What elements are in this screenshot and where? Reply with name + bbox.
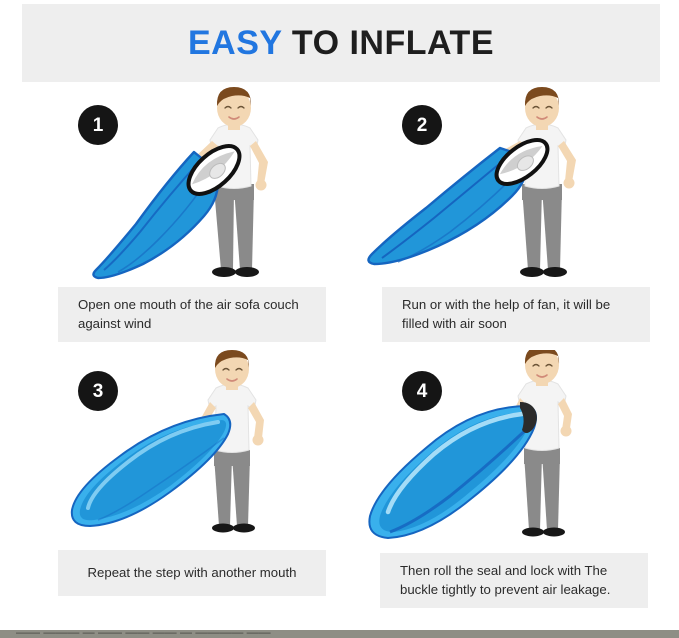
step-badge-3: 3 [78,371,118,411]
step-card-1: 1 Open one mouth of the air sofa couch a… [18,84,338,346]
page-title-highlight: EASY [188,24,282,62]
step-illustration-1 [18,84,338,290]
step-badge-2: 2 [402,105,442,145]
step-illustration-2 [342,84,662,290]
page-title: EASY TO INFLATE [188,26,494,60]
step-caption-3: Repeat the step with another mouth [58,550,326,596]
step-illustration-4 [342,350,662,556]
step-caption-2: Run or with the help of fan, it will be … [382,287,650,342]
bottom-cropped-strip: —— ——— — —— —— —— — ———— —— [0,630,679,638]
inflated-air-sofa [72,414,230,526]
header-banner: EASY TO INFLATE [22,4,660,82]
step-caption-1: Open one mouth of the air sofa couch aga… [58,287,326,342]
page-title-rest: TO INFLATE [282,24,494,62]
step-card-4: 4 Then roll the seal and lock with The b… [342,350,662,612]
step-illustration-3 [18,350,338,556]
step-card-3: 3 Repeat the step with another mouth [18,350,338,612]
bottom-cropped-text: —— ——— — —— —— —— — ———— —— [16,630,271,638]
step-card-2: 2 Run or with the help of fan, it will b… [342,84,662,346]
step-caption-4: Then roll the seal and lock with The buc… [380,553,648,608]
rolled-sealed-air-sofa [369,402,537,538]
step-badge-1: 1 [78,105,118,145]
step-badge-4: 4 [402,371,442,411]
